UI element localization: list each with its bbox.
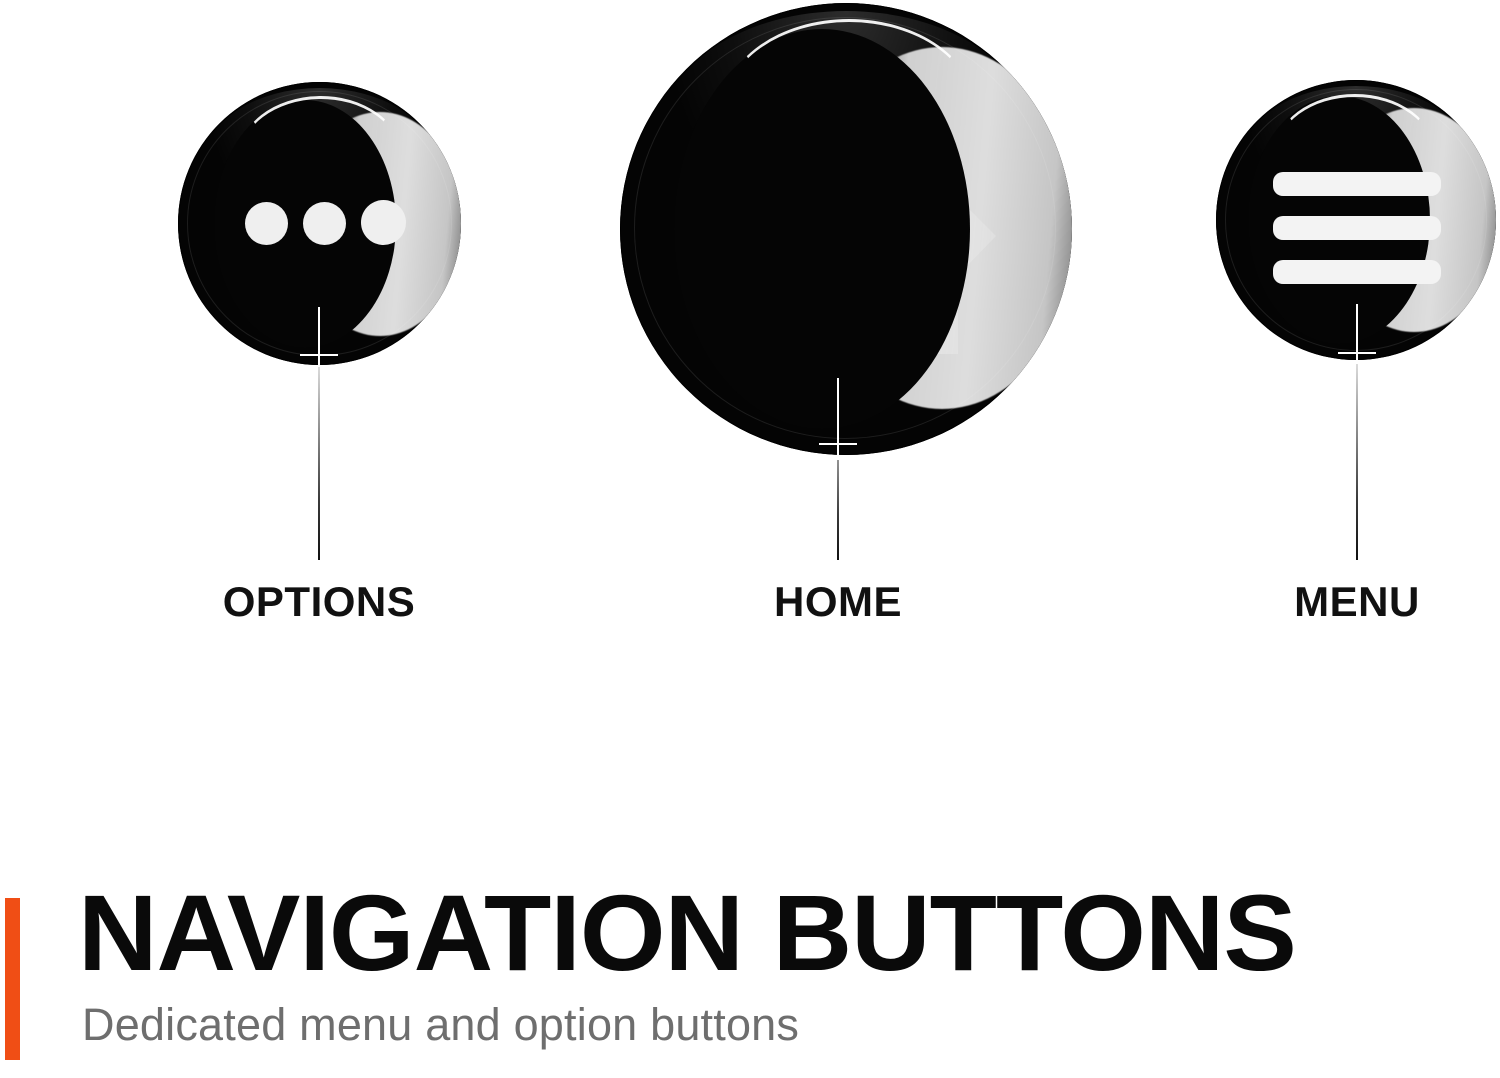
leader-line-menu-lower xyxy=(1356,344,1358,560)
leader-line-home-upper xyxy=(837,378,839,460)
page-title: NAVIGATION BUTTONS xyxy=(78,879,1296,987)
navigation-buttons-infographic: OPTIONS HOME MENU xyxy=(0,0,1500,1078)
leader-line-options-upper xyxy=(318,307,320,367)
accent-bar xyxy=(5,898,20,1060)
caption-menu: MENU xyxy=(1294,578,1420,626)
menu-highlight-arc xyxy=(1274,94,1436,215)
leader-tick-options xyxy=(300,354,338,356)
home-button[interactable] xyxy=(620,3,1072,455)
page-subtitle: Dedicated menu and option buttons xyxy=(82,1000,799,1050)
leader-tick-home xyxy=(819,443,857,445)
caption-options: OPTIONS xyxy=(223,578,416,626)
home-highlight-arc xyxy=(722,19,976,202)
caption-home: HOME xyxy=(774,578,902,626)
leader-tick-menu xyxy=(1338,352,1376,354)
leader-line-options-lower xyxy=(318,347,320,560)
leader-line-menu-upper xyxy=(1356,304,1358,364)
